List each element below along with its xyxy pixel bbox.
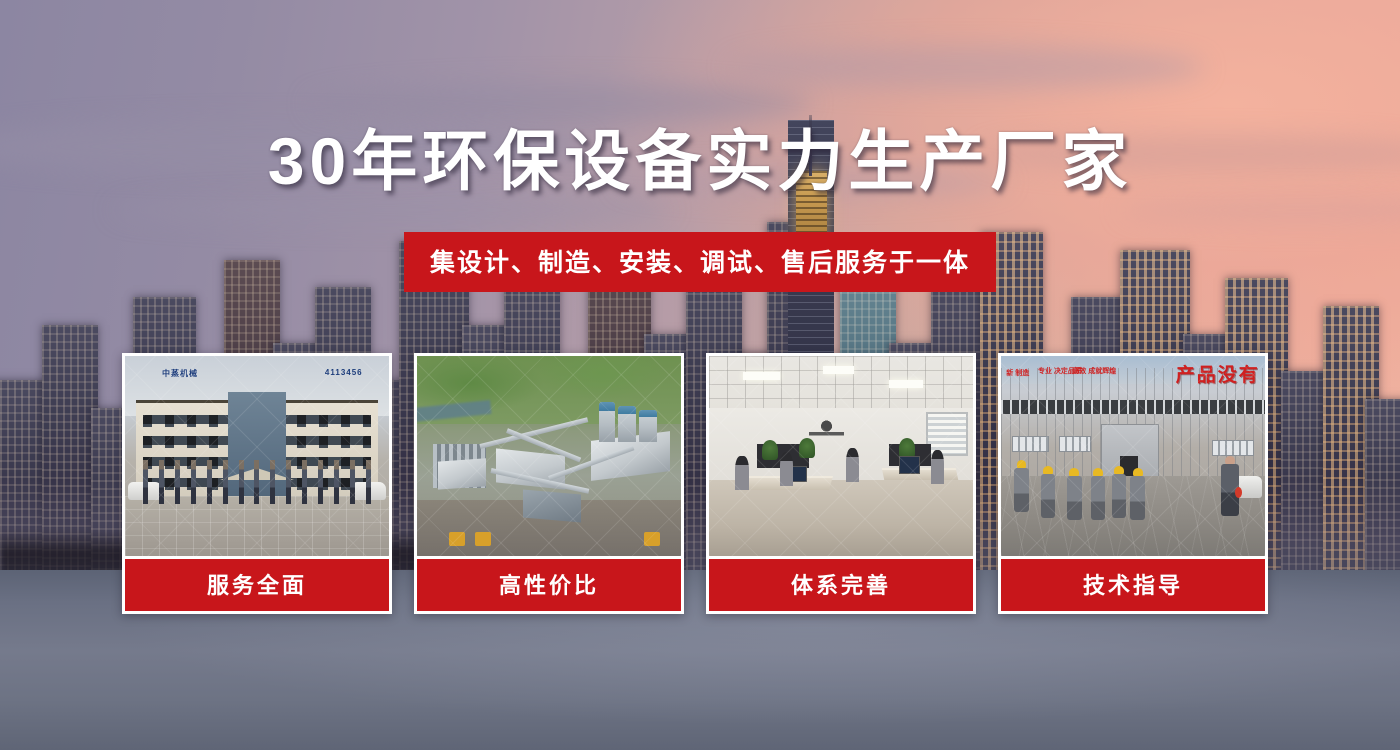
page-title: 30年环保设备实力生产厂家 <box>0 128 1400 195</box>
building-phone-text: 4113456 <box>325 368 363 377</box>
feature-card[interactable]: 高性价比 <box>414 353 684 614</box>
feature-card[interactable]: 产品没有 新 制造 专业 决定品质 高效 成就辉煌 <box>998 353 1268 614</box>
subheadline-container: 集设计、制造、安装、调试、售后服务于一体 <box>0 232 1400 292</box>
feature-card-list: 中蒸机械 4113456 服务全面 <box>122 353 1278 614</box>
staff-row <box>143 460 370 504</box>
feature-card[interactable]: 体系完善 <box>706 353 976 614</box>
feature-card[interactable]: 中蒸机械 4113456 服务全面 <box>122 353 392 614</box>
industrial-plant-aerial-photo <box>417 356 681 556</box>
building-sign-text: 中蒸机械 <box>162 368 198 379</box>
cloud <box>308 83 812 124</box>
factory-slogan: 新 制造 <box>1006 370 1029 378</box>
feature-card-label: 体系完善 <box>709 559 973 611</box>
hero-banner: 30年环保设备实力生产厂家 集设计、制造、安装、调试、售后服务于一体 中蒸机械 … <box>0 0 1400 750</box>
factory-slogan: 高效 成就辉煌 <box>1072 368 1116 376</box>
subheadline-badge: 集设计、制造、安装、调试、售后服务于一体 <box>404 232 996 292</box>
wall-decal <box>809 416 843 444</box>
office-workspace-photo <box>709 356 973 556</box>
feature-card-label: 服务全面 <box>125 559 389 611</box>
feature-card-label: 技术指导 <box>1001 559 1265 611</box>
supervisor-figure <box>1221 456 1238 516</box>
feature-card-label: 高性价比 <box>417 559 681 611</box>
company-headquarters-photo: 中蒸机械 4113456 <box>125 356 389 556</box>
cloud <box>728 45 1204 90</box>
factory-workers-training-photo: 产品没有 新 制造 专业 决定品质 高效 成就辉煌 <box>1001 356 1265 556</box>
factory-sign-text: 产品没有 <box>1176 360 1260 387</box>
